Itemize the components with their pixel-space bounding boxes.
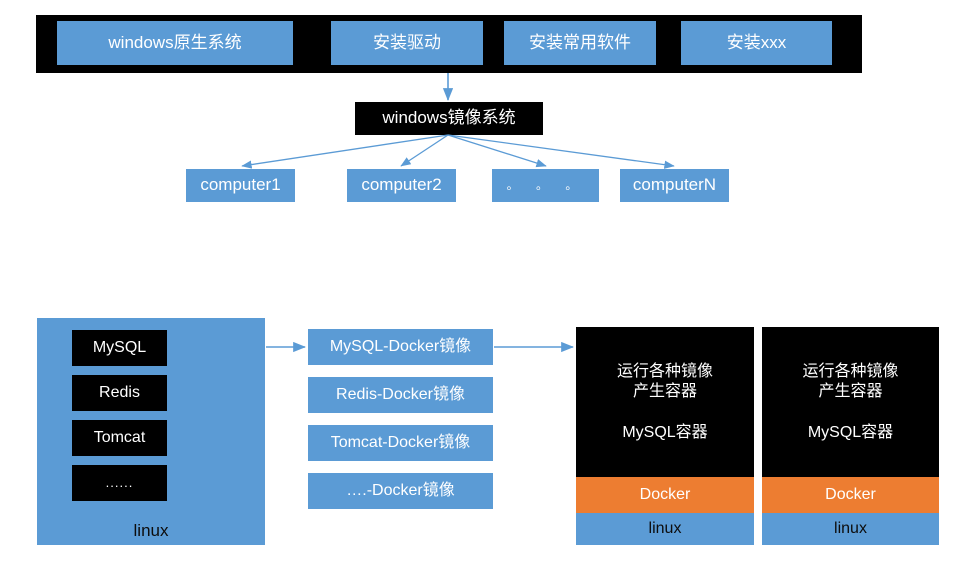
docker-image-mysql[interactable]: MySQL-Docker镜像	[308, 329, 493, 365]
bar-item-windows-native[interactable]: windows原生系统	[57, 21, 293, 65]
ellipsis-dots-label: 。 。 。	[507, 178, 585, 192]
docker-image-label: Tomcat-Docker镜像	[331, 434, 471, 453]
computer-box-1[interactable]: computer1	[186, 169, 295, 202]
docker-image-label: MySQL-Docker镜像	[330, 338, 471, 357]
bar-item-label: 安装驱动	[373, 33, 441, 53]
runtime-container-label: MySQL容器	[622, 418, 707, 442]
runtime-headline-line1: 运行各种镜像	[802, 362, 898, 382]
service-label: Tomcat	[94, 429, 146, 448]
arrow-image-system-to-computer1	[242, 135, 448, 166]
os-layer-label: linux	[834, 520, 867, 538]
computer-box-n[interactable]: computerN	[620, 169, 729, 202]
docker-layer-label: Docker	[825, 486, 876, 504]
service-box-mysql[interactable]: MySQL	[72, 330, 167, 366]
docker-image-label: ….-Docker镜像	[346, 482, 454, 501]
os-layer-label: linux	[649, 520, 682, 538]
runtime-stack-2-os-layer[interactable]: linux	[762, 513, 939, 545]
bar-item-install-common-software[interactable]: 安装常用软件	[504, 21, 656, 65]
arrow-image-system-to-computerN	[448, 135, 674, 166]
docker-layer-label: Docker	[640, 486, 691, 504]
windows-image-system-box[interactable]: windows镜像系统	[355, 102, 543, 135]
runtime-stack-1-container-area[interactable]: 运行各种镜像 产生容器 MySQL容器	[576, 327, 754, 477]
service-label: MySQL	[93, 339, 146, 358]
runtime-headline-line2: 产生容器	[617, 382, 713, 402]
runtime-stack-2-docker-layer[interactable]: Docker	[762, 477, 939, 513]
diagram-canvas: windows原生系统 安装驱动 安装常用软件 安装xxx windows镜像系…	[0, 0, 959, 567]
linux-host-os-label-wrap: linux	[37, 518, 265, 545]
runtime-headline: 运行各种镜像 产生容器	[802, 362, 898, 402]
runtime-container-label: MySQL容器	[808, 418, 893, 442]
bar-item-install-xxx[interactable]: 安装xxx	[681, 21, 832, 65]
runtime-headline-line1: 运行各种镜像	[617, 362, 713, 382]
computer-box-ellipsis[interactable]: 。 。 。	[492, 169, 599, 202]
runtime-headline: 运行各种镜像 产生容器	[617, 362, 713, 402]
service-box-tomcat[interactable]: Tomcat	[72, 420, 167, 456]
service-box-more[interactable]: ......	[72, 465, 167, 501]
windows-image-system-label: windows镜像系统	[382, 108, 515, 128]
runtime-stack-2-container-area[interactable]: 运行各种镜像 产生容器 MySQL容器	[762, 327, 939, 477]
bar-item-install-driver[interactable]: 安装驱动	[331, 21, 483, 65]
docker-image-redis[interactable]: Redis-Docker镜像	[308, 377, 493, 413]
runtime-headline-line2: 产生容器	[802, 382, 898, 402]
runtime-stack-1-docker-layer[interactable]: Docker	[576, 477, 754, 513]
service-label: Redis	[99, 384, 140, 403]
bar-item-label: windows原生系统	[108, 33, 241, 53]
arrow-image-system-to-computer-ellipsis	[448, 135, 546, 166]
bar-item-label: 安装xxx	[727, 33, 787, 53]
computer-box-2[interactable]: computer2	[347, 169, 456, 202]
computer-label: computer2	[361, 175, 441, 195]
runtime-stack-1-os-layer[interactable]: linux	[576, 513, 754, 545]
arrow-image-system-to-computer2	[401, 135, 448, 166]
bar-item-label: 安装常用软件	[529, 33, 631, 53]
linux-host-os-label: linux	[134, 521, 169, 541]
docker-image-label: Redis-Docker镜像	[336, 386, 465, 405]
docker-image-more[interactable]: ….-Docker镜像	[308, 473, 493, 509]
computer-label: computerN	[633, 175, 716, 195]
service-box-redis[interactable]: Redis	[72, 375, 167, 411]
docker-image-tomcat[interactable]: Tomcat-Docker镜像	[308, 425, 493, 461]
service-label: ......	[106, 475, 134, 490]
computer-label: computer1	[200, 175, 280, 195]
